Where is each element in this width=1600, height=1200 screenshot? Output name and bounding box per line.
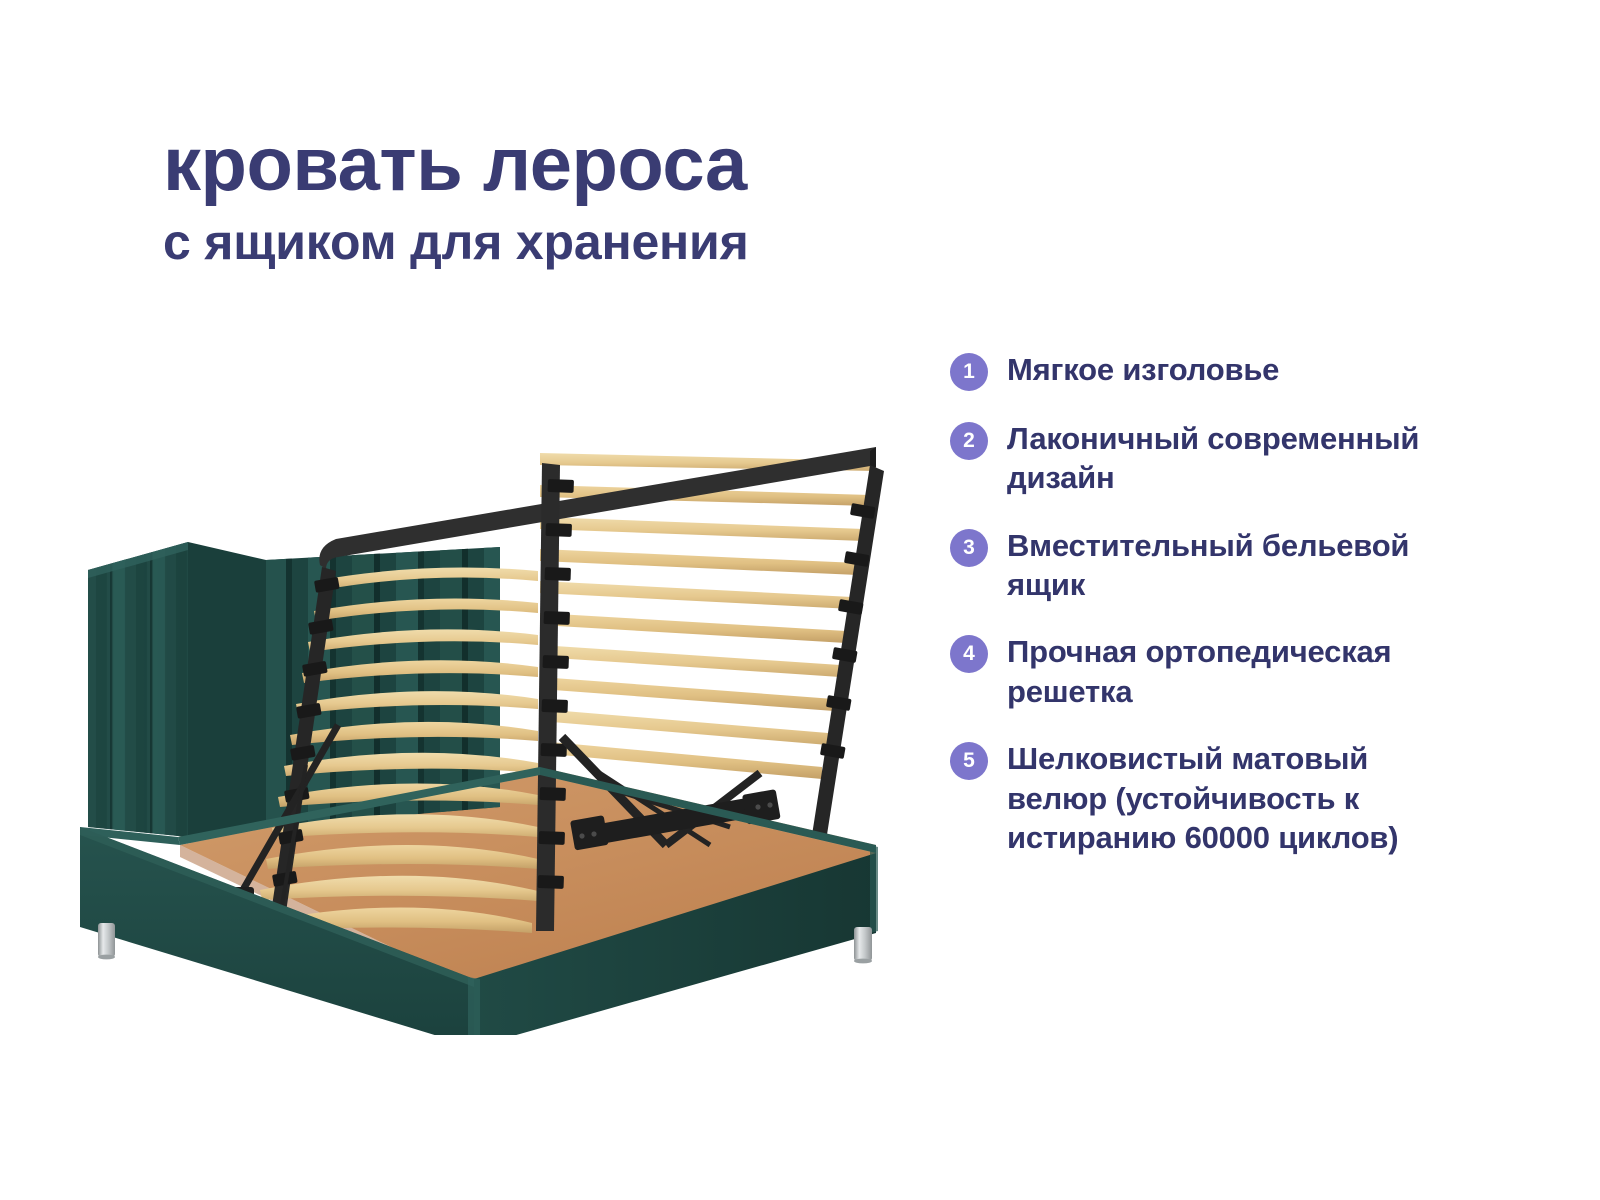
features-list: 1 Мягкое изголовье 2 Лаконичный современ…: [950, 350, 1470, 885]
feature-item-1: 1 Мягкое изголовье: [950, 350, 1470, 391]
infographic-page: кровать лероса с ящиком для хранения: [0, 0, 1600, 1200]
feature-number-badge-3: 3: [950, 529, 988, 567]
page-subtitle: с ящиком для хранения: [163, 216, 1063, 269]
product-image-bed: [70, 375, 940, 1035]
feature-number-badge-5: 5: [950, 742, 988, 780]
feature-label-2: Лаконичный современный дизайн: [1007, 419, 1470, 498]
feature-label-5: Шелковистый матовый велюр (устойчивость …: [1007, 739, 1470, 857]
feature-item-5: 5 Шелковистый матовый велюр (устойчивост…: [950, 739, 1470, 857]
feature-item-3: 3 Вместительный бельевой ящик: [950, 526, 1470, 605]
feature-number-badge-1: 1: [950, 353, 988, 391]
feature-number-badge-4: 4: [950, 635, 988, 673]
feature-item-4: 4 Прочная ортопедическая решетка: [950, 632, 1470, 711]
heading-block: кровать лероса с ящиком для хранения: [163, 128, 1063, 269]
feature-item-2: 2 Лаконичный современный дизайн: [950, 419, 1470, 498]
feature-label-3: Вместительный бельевой ящик: [1007, 526, 1470, 605]
feature-label-4: Прочная ортопедическая решетка: [1007, 632, 1470, 711]
feature-number-badge-2: 2: [950, 422, 988, 460]
feature-label-1: Мягкое изголовье: [1007, 350, 1279, 389]
page-title: кровать лероса: [163, 128, 1063, 202]
